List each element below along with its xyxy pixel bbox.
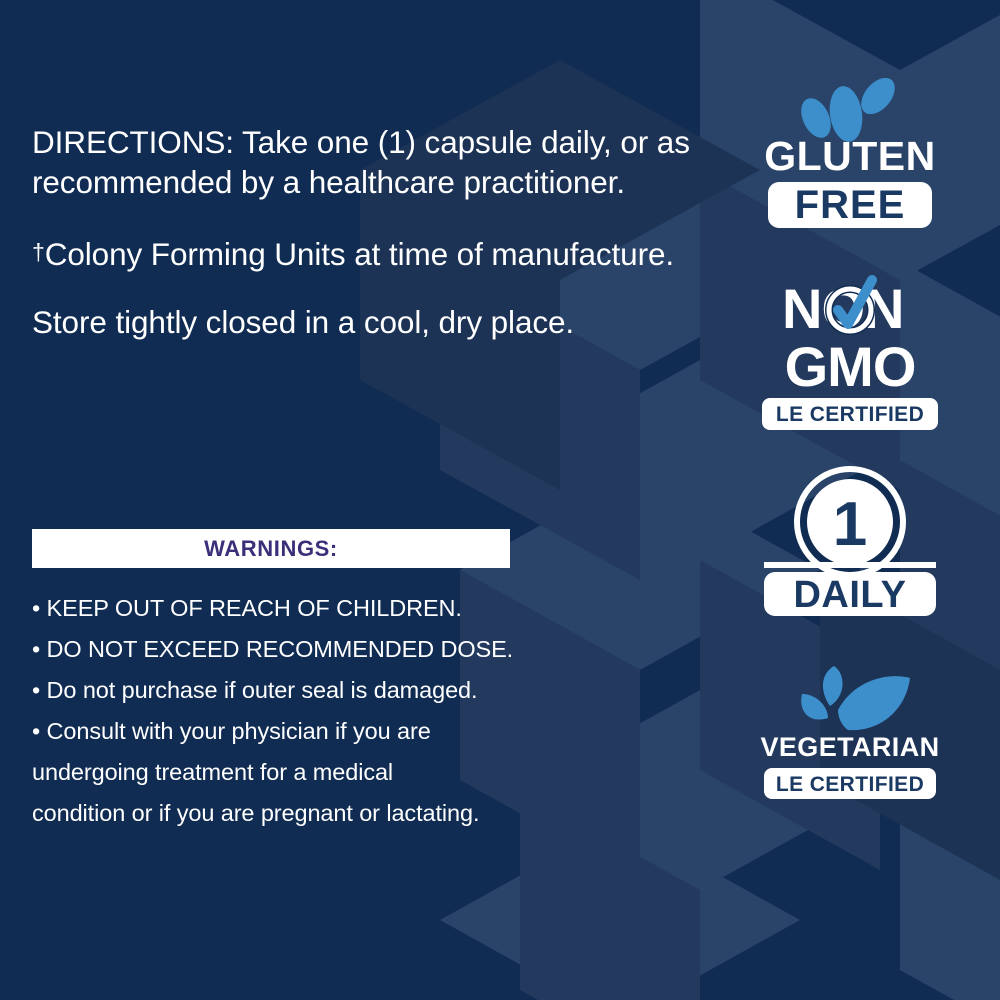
badge-line-3: LE CERTIFIED bbox=[776, 403, 924, 426]
directions-paragraph: DIRECTIONS: Take one (1) capsule daily, … bbox=[32, 122, 692, 202]
warnings-header-bar: WARNINGS: bbox=[32, 529, 510, 568]
warnings-list: • KEEP OUT OF REACH OF CHILDREN. • DO NO… bbox=[32, 588, 692, 834]
badge-gluten-free: GLUTEN FREE bbox=[742, 78, 958, 248]
badge-line-1: VEGETARIAN bbox=[760, 732, 939, 762]
badge-line-2: FREE bbox=[795, 183, 906, 227]
badge-line-1: 1 bbox=[833, 490, 867, 559]
list-item: • KEEP OUT OF REACH OF CHILDREN. bbox=[32, 588, 692, 629]
list-item: • DO NOT EXCEED RECOMMENDED DOSE. bbox=[32, 629, 692, 670]
warnings-title: WARNINGS: bbox=[204, 536, 338, 562]
directions-text-column: DIRECTIONS: Take one (1) capsule daily, … bbox=[32, 122, 692, 372]
certification-badge-column: GLUTEN FREE NON GMO LE CERTIFIED bbox=[742, 78, 958, 830]
badge-non-gmo: NON GMO LE CERTIFIED bbox=[742, 274, 958, 440]
storage-paragraph: Store tightly closed in a cool, dry plac… bbox=[32, 302, 692, 342]
list-item: • Consult with your physician if you are… bbox=[32, 711, 692, 834]
badge-one-daily: 1 DAILY bbox=[742, 466, 958, 618]
badge-line-2: DAILY bbox=[793, 574, 906, 616]
dagger-symbol: † bbox=[32, 239, 45, 265]
badge-line-1: GLUTEN bbox=[764, 133, 936, 179]
supplement-label-panel: DIRECTIONS: Take one (1) capsule daily, … bbox=[0, 0, 1000, 1000]
list-item: • Do not purchase if outer seal is damag… bbox=[32, 670, 692, 711]
badge-line-2: GMO bbox=[785, 335, 916, 398]
cfu-footnote-paragraph: †Colony Forming Units at time of manufac… bbox=[32, 232, 692, 274]
leaves-icon bbox=[801, 666, 910, 730]
warnings-block: WARNINGS: • KEEP OUT OF REACH OF CHILDRE… bbox=[32, 529, 692, 834]
badge-line-2: LE CERTIFIED bbox=[776, 773, 924, 796]
badge-vegetarian: VEGETARIAN LE CERTIFIED bbox=[742, 644, 958, 804]
cfu-footnote-text: Colony Forming Units at time of manufact… bbox=[45, 236, 674, 272]
circle-one-icon: 1 bbox=[797, 469, 903, 575]
